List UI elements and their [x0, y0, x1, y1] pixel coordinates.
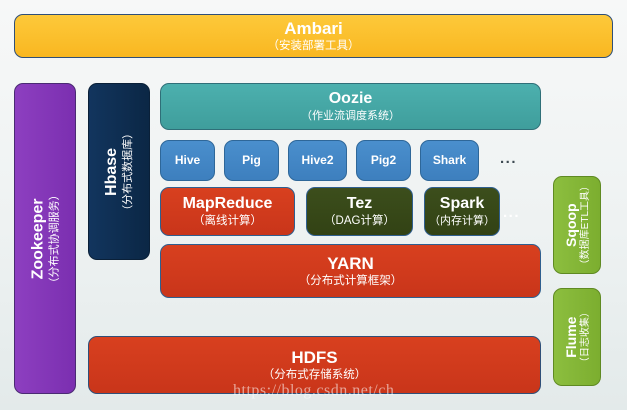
yarn-title: YARN — [299, 254, 403, 274]
hdfs-title: HDFS — [263, 348, 367, 368]
hive2-label: Hive2 — [301, 153, 333, 167]
tez-description: （DAG计算） — [324, 215, 395, 229]
component-tez[interactable]: Tez （DAG计算） — [306, 187, 413, 236]
ambari-description: （安装部署工具） — [268, 40, 360, 54]
ellipsis-query-engines: ... — [500, 151, 517, 166]
hadoop-ecosystem-diagram: Ambari （安装部署工具） Zookeeper （分布式协调服务） Hbas… — [0, 0, 627, 410]
flume-label-rotated: Flume （日志收集） — [563, 307, 591, 367]
component-pig2[interactable]: Pig2 — [356, 140, 411, 181]
hive-label: Hive — [175, 153, 200, 167]
flume-title: Flume — [563, 316, 580, 357]
mapreduce-description: （离线计算） — [183, 215, 273, 229]
hbase-label-rotated: Hbase （分布式数据库） — [103, 128, 135, 216]
pig-label: Pig — [242, 153, 261, 167]
tez-title: Tez — [324, 195, 395, 214]
hbase-title: Hbase — [103, 147, 122, 195]
component-oozie[interactable]: Oozie （作业流调度系统） — [160, 83, 541, 130]
component-shark[interactable]: Shark — [420, 140, 479, 181]
component-hbase[interactable]: Hbase （分布式数据库） — [88, 83, 150, 260]
zookeeper-title: Zookeeper — [29, 198, 48, 279]
hbase-description: （分布式数据库） — [122, 128, 135, 216]
sqoop-title: Sqoop — [563, 203, 580, 247]
mapreduce-title: MapReduce — [183, 195, 273, 214]
sqoop-description: （数据库ETL工具） — [579, 181, 591, 269]
component-ambari[interactable]: Ambari （安装部署工具） — [14, 14, 613, 58]
ambari-title: Ambari — [268, 19, 360, 39]
sqoop-label-rotated: Sqoop （数据库ETL工具） — [563, 181, 591, 269]
component-zookeeper[interactable]: Zookeeper （分布式协调服务） — [14, 83, 76, 394]
component-flume[interactable]: Flume （日志收集） — [553, 288, 601, 386]
ellipsis-compute-engines: ... — [503, 205, 520, 220]
flume-description: （日志收集） — [579, 307, 591, 367]
spark-title: Spark — [429, 195, 495, 214]
zookeeper-description: （分布式协调服务） — [48, 189, 61, 288]
component-sqoop[interactable]: Sqoop （数据库ETL工具） — [553, 176, 601, 274]
component-hive[interactable]: Hive — [160, 140, 215, 181]
zookeeper-label-rotated: Zookeeper （分布式协调服务） — [29, 189, 61, 288]
component-yarn[interactable]: YARN （分布式计算框架） — [160, 244, 541, 298]
pig2-label: Pig2 — [371, 153, 396, 167]
component-pig[interactable]: Pig — [224, 140, 279, 181]
hdfs-description: （分布式存储系统） — [263, 369, 367, 383]
oozie-description: （作业流调度系统） — [301, 110, 400, 123]
component-hive2[interactable]: Hive2 — [288, 140, 347, 181]
component-spark[interactable]: Spark （内存计算） — [424, 187, 500, 236]
yarn-description: （分布式计算框架） — [299, 275, 403, 289]
spark-description: （内存计算） — [429, 215, 495, 228]
shark-label: Shark — [433, 153, 466, 167]
component-mapreduce[interactable]: MapReduce （离线计算） — [160, 187, 295, 236]
oozie-title: Oozie — [301, 90, 400, 109]
component-hdfs[interactable]: HDFS （分布式存储系统） — [88, 336, 541, 394]
